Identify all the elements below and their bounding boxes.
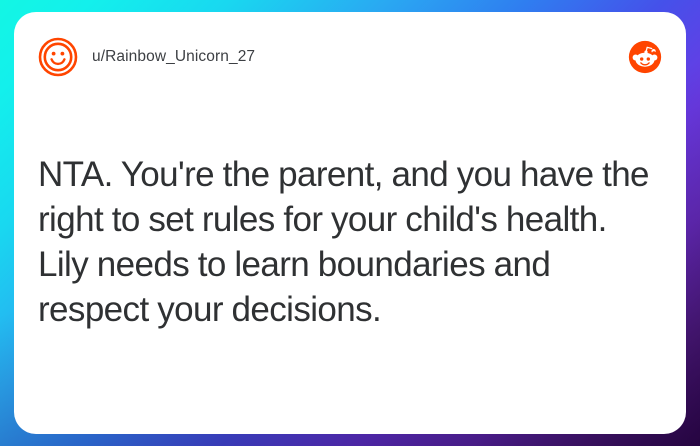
username-label: u/Rainbow_Unicorn_27	[92, 48, 255, 66]
reddit-snoo-logo-icon	[628, 40, 662, 74]
post-body-text: NTA. You're the parent, and you have the…	[38, 152, 662, 332]
reddit-post-card: u/Rainbow_Unicorn_27 NTA. Y	[14, 12, 686, 434]
reddit-logo-button[interactable]	[628, 40, 662, 74]
gradient-background: u/Rainbow_Unicorn_27 NTA. Y	[0, 0, 700, 446]
post-header: u/Rainbow_Unicorn_27	[14, 34, 686, 80]
avatar[interactable]	[38, 37, 78, 77]
smiley-face-avatar-icon	[38, 37, 78, 77]
